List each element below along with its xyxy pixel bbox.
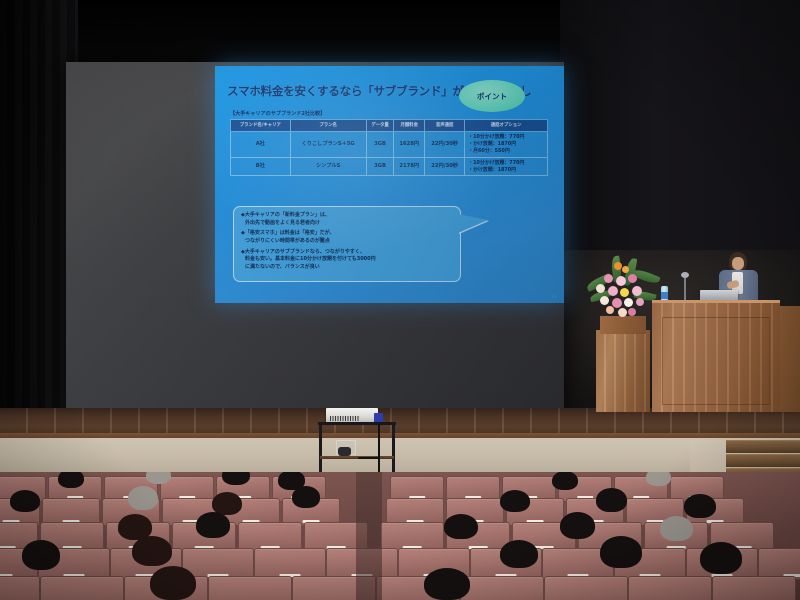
cell-voice: 22円/30秒: [425, 131, 465, 157]
presenter-face: [732, 257, 744, 270]
cart-cable: [358, 457, 380, 459]
audience-head: [500, 540, 538, 568]
cell-plan: シンプルS: [290, 157, 366, 176]
audience-head: [684, 494, 716, 518]
comparison-table: ブランド名/キャリア プラン名 データ量 月額料金 音声通話 通話オプション A…: [230, 119, 548, 176]
projector: [326, 408, 378, 423]
point-badge-label: ポイント: [477, 91, 507, 102]
audience-head: [10, 490, 40, 512]
point-badge: ポイント: [459, 80, 525, 112]
bullet-line: に満たないので、バランスが良い: [241, 264, 456, 272]
table-row: A社 くりこしプランS＋5G 3GB 1628円 22円/30秒 ・10分かけ放…: [231, 131, 548, 157]
projection-screen: スマホ料金を安くするなら「サブブランド」がバランス良し 【大手キャリアのサブブラ…: [66, 62, 564, 414]
table-header-row: ブランド名/キャリア プラン名 データ量 月額料金 音声通話 通話オプション: [231, 120, 548, 132]
cart-lower-shelf: [320, 456, 394, 459]
audience-head: [22, 540, 60, 570]
column-header-plan: プラン名: [290, 120, 366, 132]
column-header-price: 月額料金: [394, 120, 425, 132]
bullet-line: 外出先で動画をよく見る若者向け: [241, 220, 456, 228]
audience-head: [292, 486, 320, 508]
audience-head: [58, 472, 84, 488]
floral-arrangement: [582, 252, 662, 322]
column-header-data: データ量: [366, 120, 394, 132]
audience-head: [700, 542, 742, 574]
callout-bullet-list: ◆大手キャリアの「新料金プラン」は、 外出先で動画をよく見る若者向け ◆「格安ス…: [241, 212, 456, 275]
cell-price: 2178円: [394, 157, 425, 176]
flower-pedestal: [596, 330, 650, 412]
column-header-voice: 音声通話: [425, 120, 465, 132]
projected-slide: スマホ料金を安くするなら「サブブランド」がバランス良し 【大手キャリアのサブブラ…: [215, 66, 564, 303]
column-header-options: 通話オプション: [465, 120, 548, 132]
bullet-line: つながりにくい時間帯があるのが難点: [241, 238, 456, 246]
auditorium-photo: スマホ料金を安くするなら「サブブランド」がバランス良し 【大手キャリアのサブブラ…: [0, 0, 800, 600]
podium: [652, 300, 780, 412]
option-line: ・月60分：550円: [468, 148, 546, 155]
audience-head: [660, 516, 693, 541]
cell-price: 1628円: [394, 131, 425, 157]
projector-vents: [330, 416, 360, 421]
podium-front-panel: [662, 317, 770, 405]
audience-head: [646, 472, 671, 486]
cell-options: ・10分かけ放題：770円 ・かけ放題：1870円: [465, 157, 548, 176]
audience-seating: [0, 472, 800, 600]
cart-equipment: [338, 447, 351, 456]
cell-data: 3GB: [366, 157, 394, 176]
bullet-line: ◆大手キャリアのサブブランドなら、つながりやすく、: [241, 249, 456, 257]
audience-head: [552, 472, 578, 490]
slide-page-number: 12: [551, 295, 557, 300]
cell-data: 3GB: [366, 131, 394, 157]
option-line: ・10分かけ放題：770円: [468, 160, 546, 167]
option-line: ・かけ放題：1870円: [468, 166, 546, 173]
callout-bubble: ◆大手キャリアの「新料金プラン」は、 外出先で動画をよく見る若者向け ◆「格安ス…: [233, 206, 461, 282]
audience-head: [146, 472, 171, 484]
bullet-line: ◆「格安スマホ」は料金は「格安」だが、: [241, 230, 456, 238]
cell-plan: くりこしプランS＋5G: [290, 131, 366, 157]
callout-bullet: ◆大手キャリアのサブブランドなら、つながりやすく、 料金も安い。基本料金に10分…: [241, 249, 456, 272]
audience-head: [150, 566, 196, 600]
microphone-icon: [681, 272, 689, 278]
slide-title: スマホ料金を安くするなら「サブブランド」がバランス良し: [227, 83, 531, 99]
audience-head: [500, 490, 530, 512]
cell-options: ・10分かけ放題：770円 ・かけ放題：1870円 ・月60分：550円: [465, 131, 548, 157]
bottle-label: [661, 292, 668, 299]
slide-table-caption: 【大手キャリアのサブブランド2社比較】: [230, 110, 325, 117]
cell-voice: 22円/30秒: [425, 157, 465, 176]
projector-cart: [318, 412, 396, 478]
audience-head: [132, 536, 172, 566]
option-line: ・10分かけ放題：770円: [468, 134, 546, 141]
audience-head: [196, 512, 230, 538]
audience-head: [560, 512, 595, 539]
audience-head: [424, 568, 470, 600]
audience-head: [600, 536, 642, 568]
column-header-brand: ブランド名/キャリア: [231, 120, 291, 132]
cart-cable: [378, 424, 380, 476]
bullet-line: ◆大手キャリアの「新料金プラン」は、: [241, 212, 456, 220]
center-aisle: [356, 472, 382, 600]
callout-bullet: ◆大手キャリアの「新料金プラン」は、 外出先で動画をよく見る若者向け: [241, 212, 456, 227]
cart-top-shelf: [318, 422, 396, 425]
callout-bullet: ◆「格安スマホ」は料金は「格安」だが、 つながりにくい時間帯があるのが難点: [241, 230, 456, 245]
audience-head: [128, 486, 158, 510]
audience-head: [444, 514, 478, 539]
callout-bubble-tail: [458, 214, 488, 233]
cell-brand: A社: [231, 131, 291, 157]
option-line: ・かけ放題：1870円: [468, 141, 546, 148]
bullet-line: 料金も安い。基本料金に10分かけ放題を付けても3000円: [241, 256, 456, 264]
stage-curtain-right: [560, 0, 800, 250]
table-row: B社 シンプルS 3GB 2178円 22円/30秒 ・10分かけ放題：770円…: [231, 157, 548, 176]
cell-brand: B社: [231, 157, 291, 176]
audience-head: [596, 488, 627, 512]
